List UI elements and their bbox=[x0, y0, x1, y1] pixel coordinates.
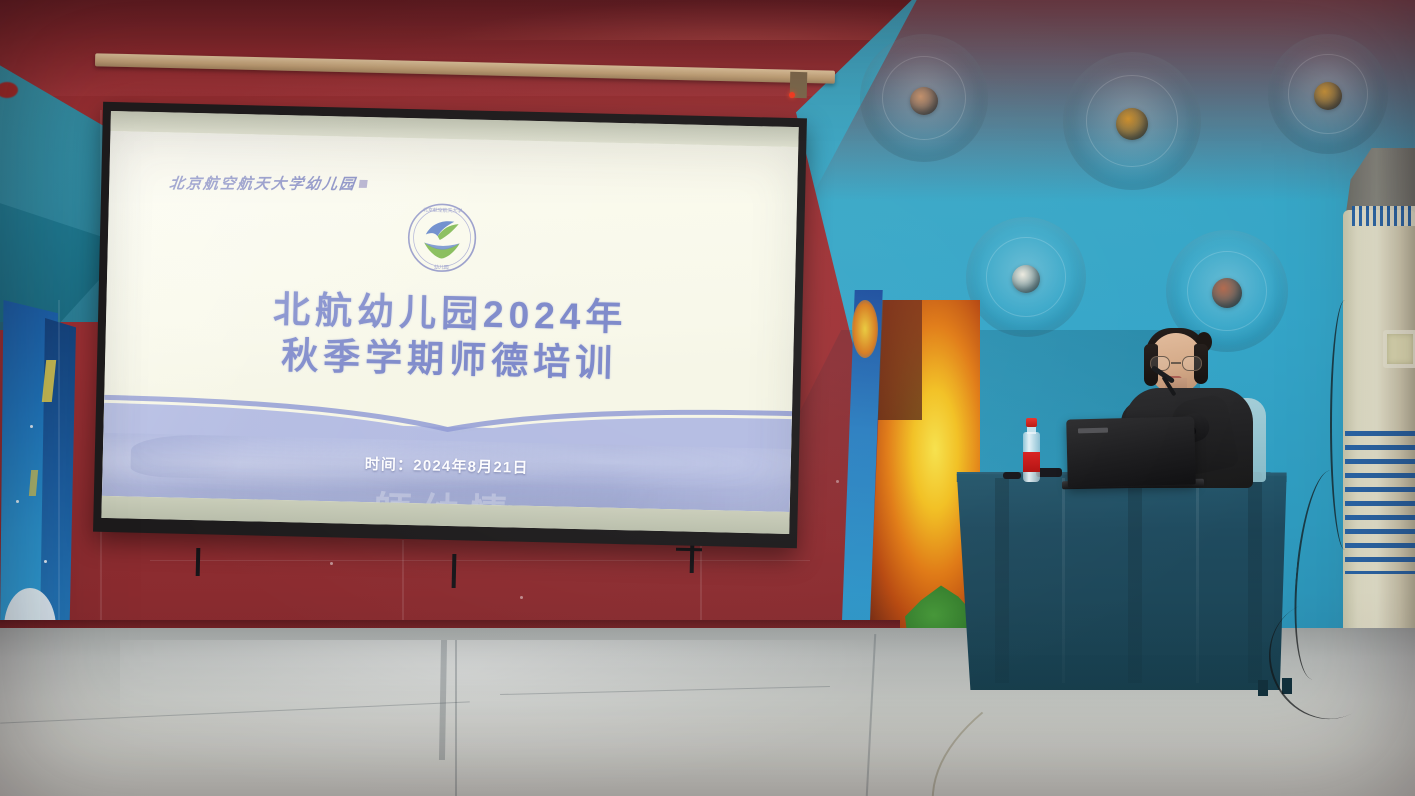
kindergarten-crest-logo: 北京航空航天大学 幼儿园 bbox=[404, 200, 480, 276]
projector-screen: 北京航空航天大学幼儿园 北京航空航天大学 幼儿园 bbox=[93, 102, 807, 548]
blue-column-glow bbox=[852, 300, 878, 358]
rocket-window bbox=[1383, 330, 1415, 368]
cloth-fold bbox=[995, 478, 1009, 683]
wall-crater-ball bbox=[910, 87, 938, 115]
wall-speckle bbox=[520, 596, 523, 599]
wall-seam bbox=[150, 560, 810, 561]
slide-title: 北航幼儿园2024年 秋季学期师德培训 bbox=[105, 283, 795, 391]
mural-star bbox=[16, 500, 19, 503]
presentation-slide: 北京航空航天大学幼儿园 北京航空航天大学 幼儿园 bbox=[102, 131, 798, 512]
laptop-brand-logo bbox=[1078, 428, 1108, 434]
water-bottle-cap bbox=[1026, 418, 1037, 427]
screen-hanging-tab bbox=[676, 548, 702, 552]
floor-reflection bbox=[120, 640, 880, 796]
screen-hanging-tab bbox=[452, 554, 457, 588]
cloth-fold bbox=[1248, 478, 1262, 683]
power-cable bbox=[1330, 300, 1360, 550]
wall-seam bbox=[58, 300, 60, 632]
status-led-icon bbox=[789, 92, 795, 98]
wall-speckle bbox=[330, 562, 333, 565]
cloth-fold bbox=[1128, 478, 1142, 683]
wall-crater-ball bbox=[1116, 108, 1148, 140]
water-bottle-label bbox=[1023, 452, 1040, 472]
cloth-fold bbox=[1062, 478, 1065, 683]
table-leg bbox=[1258, 680, 1268, 696]
glasses-lens-right bbox=[1182, 356, 1202, 371]
floor-tile-seam bbox=[455, 640, 457, 796]
desk-cable-coil bbox=[1003, 472, 1021, 479]
mural-star bbox=[30, 425, 33, 428]
seal-icon bbox=[359, 180, 368, 188]
photo-scene: 北京航空航天大学幼儿园 北京航空航天大学 幼儿园 bbox=[0, 0, 1415, 796]
slide-institution-handwriting: 北京航空航天大学幼儿园 bbox=[168, 172, 369, 194]
svg-text:幼儿园: 幼儿园 bbox=[434, 264, 449, 271]
rocket-grill bbox=[1352, 206, 1415, 226]
screen-hanging-tab bbox=[196, 548, 201, 576]
cloth-fold bbox=[1196, 478, 1199, 683]
slide-institution-text: 北京航空航天大学幼儿园 bbox=[168, 176, 357, 192]
glasses-bridge bbox=[1171, 362, 1181, 364]
projector-screen-surface: 北京航空航天大学幼儿园 北京航空航天大学 幼儿园 bbox=[101, 111, 798, 534]
projector-screen-frame: 北京航空航天大学幼儿园 北京航空航天大学 幼儿园 bbox=[93, 102, 807, 548]
mural-star bbox=[44, 560, 47, 563]
wall-seam bbox=[402, 540, 404, 632]
laptop[interactable] bbox=[1066, 416, 1196, 487]
